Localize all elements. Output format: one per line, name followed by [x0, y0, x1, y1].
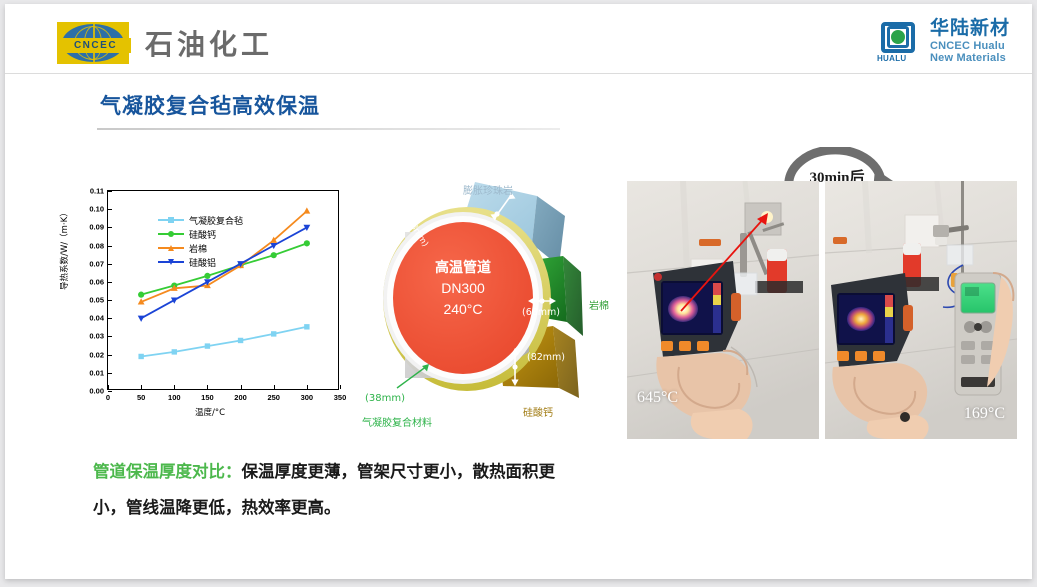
cncec-letters: C N C E C	[59, 38, 131, 53]
chart-legend-swatch	[158, 247, 184, 249]
summary-line-1-rest: 保温厚度更薄，管架尺寸更小，散热面积更	[242, 462, 556, 481]
chart-legend-label: 硅酸铝	[189, 256, 216, 269]
chart-legend-swatch	[158, 219, 184, 221]
pipe-label-line1: 高温管道	[401, 258, 525, 278]
chart-data-point	[304, 324, 309, 329]
chart-y-tick-label: 0.09	[89, 223, 104, 232]
pipe-label-line3: 240°C	[401, 299, 525, 319]
photo-before-temperature: 645°C	[637, 389, 678, 407]
chart-x-tick-label: 100	[168, 393, 181, 402]
header-divider	[5, 73, 1032, 74]
title-underline	[97, 128, 560, 130]
chart-x-tick-label: 0	[106, 393, 110, 402]
chart-legend-label: 岩棉	[189, 242, 207, 255]
chart-series-line	[141, 327, 307, 357]
cncec-letter: C	[108, 41, 116, 51]
chart-data-point	[303, 207, 310, 213]
chart-data-point	[138, 316, 145, 322]
photo-after-image	[825, 181, 1017, 439]
chart-y-tick-label: 0.06	[89, 277, 104, 286]
cncec-letter: E	[100, 41, 107, 51]
chart-y-tick-label: 0.07	[89, 259, 104, 268]
photo-after: 169°C	[825, 181, 1017, 439]
chart-y-tick-label: 0.00	[89, 387, 104, 396]
chart-x-tick-label: 50	[137, 393, 145, 402]
chart-y-tick-label: 0.08	[89, 241, 104, 250]
chart-x-tick-label: 300	[301, 393, 314, 402]
photo-after-temperature: 169°C	[964, 405, 1005, 423]
page-title: 气凝胶复合毡高效保温	[100, 90, 320, 120]
chart-legend-item: 岩棉	[158, 241, 243, 255]
chart-legend: 气凝胶复合毡硅酸钙岩棉硅酸铝	[158, 213, 243, 269]
thermal-test-photos: 645°C	[627, 181, 1017, 439]
brand-name-cn: 石油化工	[145, 23, 273, 63]
chart-plot-area: 0.000.010.020.030.040.050.060.070.080.09…	[107, 190, 339, 390]
chart-x-tick-label: 250	[267, 393, 280, 402]
chart-legend-marker	[168, 245, 174, 251]
chart-data-point	[271, 252, 277, 258]
hualu-name-en-line1: CNCEC Hualu	[930, 40, 1010, 53]
chart-y-axis-label: 导热系数/W/（m·K）	[58, 208, 70, 290]
summary-highlight: 管道保温厚度对比：	[93, 462, 242, 481]
chart-data-point	[238, 338, 243, 343]
chart-data-point	[138, 354, 143, 359]
hualu-mark-word: HUALU	[877, 54, 907, 63]
hualu-name-en-line2: New Materials	[930, 52, 1010, 65]
chart-x-axis-label: 温度/°C	[195, 406, 225, 418]
chart-x-tick-label: 350	[334, 393, 347, 402]
pipe-label-line2: DN300	[401, 278, 525, 298]
chart-x-tick-label: 200	[234, 393, 247, 402]
hualu-logo-icon: HUALU	[877, 22, 921, 62]
chart-legend-swatch	[158, 261, 184, 263]
slide: C N C E C 石油化工 HUALU 华陆新材 CNCEC Hualu Ne…	[5, 4, 1032, 579]
chart-legend-item: 硅酸钙	[158, 227, 243, 241]
chart-legend-marker	[168, 259, 174, 265]
summary-line-2: 小，管线温降更低，热效率更高。	[93, 490, 633, 526]
pipe-center-label: 高温管道 DN300 240°C	[401, 258, 525, 319]
chart-legend-marker	[168, 217, 174, 223]
chart-data-point	[172, 349, 177, 354]
header-left-brand: C N C E C 石油化工	[57, 22, 273, 64]
chart-data-point	[138, 292, 144, 298]
chart-y-tick-mark	[108, 391, 112, 392]
cncec-letter: N	[83, 41, 91, 51]
chart-y-tick-label: 0.05	[89, 296, 104, 305]
chart-y-tick-label: 0.03	[89, 332, 104, 341]
layer-label-rockwool: 岩棉	[589, 297, 609, 312]
chart-data-point	[204, 273, 210, 279]
chart-y-tick-label: 0.01	[89, 368, 104, 377]
header-right-brand: HUALU 华陆新材 CNCEC Hualu New Materials	[877, 18, 1010, 65]
thermal-conductivity-chart: 导热系数/W/（m·K） 温度/°C 0.000.010.020.030.040…	[67, 182, 367, 418]
cncec-letter: C	[74, 41, 82, 51]
chart-legend-label: 气凝胶复合毡	[189, 214, 243, 227]
pipe-insulation-diagram: 膨胀珍珠岩 (128mm) 岩棉 (68mm) 硅酸钙 (82mm) (38mm…	[367, 174, 625, 424]
layer-label-perlite: 膨胀珍珠岩	[463, 182, 513, 197]
chart-x-tick-label: 150	[201, 393, 214, 402]
chart-y-tick-label: 0.10	[89, 205, 104, 214]
cncec-logo-icon: C N C E C	[57, 22, 129, 64]
cncec-letter: C	[91, 41, 99, 51]
chart-data-point	[304, 240, 310, 246]
layer-thickness-calcium-silicate: (82mm)	[527, 352, 565, 363]
summary-text: 管道保温厚度对比：保温厚度更薄，管架尺寸更小，散热面积更 小，管线温降更低，热效…	[93, 454, 633, 526]
layer-label-calcium-silicate: 硅酸钙	[523, 404, 553, 419]
chart-data-point	[205, 343, 210, 348]
chart-y-tick-label: 0.02	[89, 350, 104, 359]
chart-x-tick-mark	[340, 385, 341, 389]
hualu-name-cn: 华陆新材	[930, 18, 1010, 40]
layer-thickness-aerogel: (38mm)	[365, 393, 405, 404]
chart-legend-swatch	[158, 233, 184, 235]
layer-label-aerogel: 气凝胶复合材料	[362, 414, 432, 429]
chart-legend-item: 气凝胶复合毡	[158, 213, 243, 227]
chart-data-point	[271, 331, 276, 336]
layer-thickness-rockwool: (68mm)	[522, 307, 560, 318]
photo-before: 645°C	[627, 181, 819, 439]
chart-legend-label: 硅酸钙	[189, 228, 216, 241]
chart-y-tick-label: 0.11	[90, 187, 104, 196]
chart-legend-item: 硅酸铝	[158, 255, 243, 269]
summary-line-1: 管道保温厚度对比：保温厚度更薄，管架尺寸更小，散热面积更	[93, 454, 633, 490]
chart-y-tick-label: 0.04	[89, 314, 104, 323]
chart-legend-marker	[168, 231, 174, 237]
